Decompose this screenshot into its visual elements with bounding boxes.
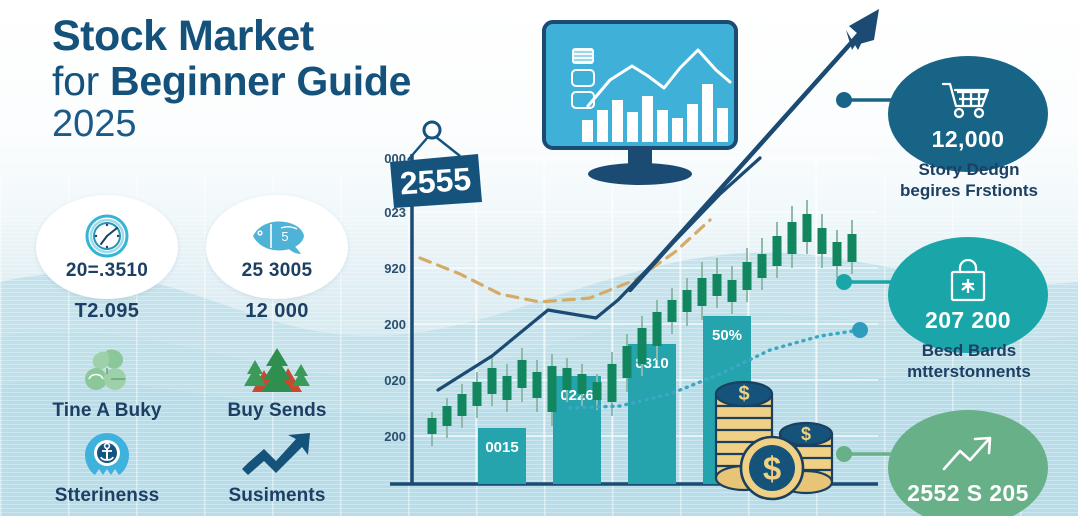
left-cell-mountain-trees[interactable]: Buy Sends bbox=[202, 340, 352, 422]
clock-gauge-icon bbox=[84, 213, 130, 259]
candlestick-body bbox=[578, 374, 587, 394]
left-cell-growth-arrow[interactable]: Susiments bbox=[202, 425, 352, 507]
chart-bar bbox=[478, 428, 526, 484]
badge-caption-2: Besd Bards mtterstonnents bbox=[866, 341, 1072, 382]
title-beginner-guide: Beginner Guide bbox=[110, 58, 411, 104]
stat-oval-fish-value: 25 3005 bbox=[242, 260, 313, 282]
infographic-canvas: Stock Market for Beginner Guide 2025 20=… bbox=[0, 0, 1078, 516]
page-title: Stock Market for Beginner Guide 2025 bbox=[52, 14, 522, 146]
title-line-2: for Beginner Guide bbox=[52, 59, 522, 103]
badge-caption-2-line2: mtterstonnents bbox=[866, 362, 1072, 383]
badge-caption-2-line1: Besd Bards bbox=[866, 341, 1072, 362]
candlestick-body bbox=[548, 366, 557, 412]
candlestick-body bbox=[653, 312, 662, 346]
trend-up-arrow-icon bbox=[940, 430, 996, 478]
coin-stacks: $ $ $ bbox=[702, 368, 854, 516]
badge-caption-1: Story Dedgn begires Frstionts bbox=[866, 160, 1072, 201]
badge-shopping-cart[interactable]: 12,000 bbox=[888, 56, 1048, 172]
fish-icon: 5 bbox=[247, 213, 307, 259]
candlestick-body bbox=[488, 368, 497, 394]
candlestick-body bbox=[638, 328, 647, 364]
y-tick-label: 920 bbox=[384, 261, 406, 276]
left-cell-anchor-badge[interactable]: Stterinenss bbox=[32, 425, 182, 507]
left-cell-label-1: Tine A Buky bbox=[32, 400, 182, 422]
candlestick-body bbox=[593, 382, 602, 400]
title-line-1: Stock Market bbox=[52, 14, 522, 59]
svg-text:5: 5 bbox=[281, 229, 288, 244]
teal-line-endpoint bbox=[852, 322, 868, 338]
left-cell-label-2: Buy Sends bbox=[202, 400, 352, 422]
growth-arrow-icon bbox=[202, 425, 352, 479]
badge-shopping-bag[interactable]: 207 200 bbox=[888, 237, 1048, 353]
y-tick-label: 200 bbox=[384, 429, 406, 444]
big-up-arrow-icon bbox=[600, 0, 900, 300]
stat-sub-value-2: 12 000 bbox=[202, 300, 352, 323]
title-for-word: for bbox=[52, 58, 110, 104]
stat-oval-fish[interactable]: 5 25 3005 bbox=[206, 195, 348, 299]
left-cell-label-4: Susiments bbox=[202, 485, 352, 507]
candlestick-body bbox=[623, 346, 632, 378]
leaf-coins-icon bbox=[32, 340, 182, 394]
coin-stack-icon: $ $ $ bbox=[702, 368, 854, 516]
chart-bar-label: 0015 bbox=[485, 439, 518, 456]
badge-value-2: 207 200 bbox=[925, 307, 1011, 334]
svg-text:$: $ bbox=[738, 383, 749, 405]
y-tick-label: 200 bbox=[384, 317, 406, 332]
svg-text:$: $ bbox=[763, 450, 781, 487]
big-up-arrow bbox=[600, 0, 900, 305]
shopping-bag-icon bbox=[946, 257, 990, 305]
left-cell-leaf-coins[interactable]: Tine A Buky bbox=[32, 340, 182, 422]
svg-text:$: $ bbox=[801, 424, 811, 444]
stat-sub-value-1: T2.095 bbox=[32, 300, 182, 323]
badge-caption-1-line2: begires Frstionts bbox=[866, 181, 1072, 202]
candlestick-body bbox=[563, 368, 572, 390]
chart-bar-label: 50% bbox=[712, 327, 742, 344]
candlestick-body bbox=[503, 376, 512, 400]
candlestick-body bbox=[473, 382, 482, 406]
candlestick-body bbox=[608, 364, 617, 402]
title-year: 2025 bbox=[52, 103, 522, 146]
badge-value-3: 2552 S 205 bbox=[907, 480, 1029, 507]
stat-oval-clock-value: 20=.3510 bbox=[66, 260, 148, 282]
anchor-badge-icon bbox=[32, 425, 182, 479]
hanging-sign-value: 2555 bbox=[399, 161, 473, 202]
candlestick-body bbox=[428, 418, 437, 434]
candlestick-body bbox=[443, 406, 452, 426]
badge-trend-up[interactable]: 2552 S 205 bbox=[888, 410, 1048, 516]
y-tick-label: 020 bbox=[384, 373, 406, 388]
stat-oval-clock[interactable]: 20=.3510 bbox=[36, 195, 178, 299]
badge-caption-1-line1: Story Dedgn bbox=[866, 160, 1072, 181]
badge-value-1: 12,000 bbox=[932, 126, 1005, 153]
shopping-cart-icon bbox=[941, 76, 995, 124]
candlestick-body bbox=[458, 394, 467, 416]
candlestick-body bbox=[518, 360, 527, 388]
mountain-trees-icon bbox=[202, 340, 352, 394]
left-cell-label-3: Stterinenss bbox=[32, 485, 182, 507]
candlestick-body bbox=[533, 372, 542, 398]
